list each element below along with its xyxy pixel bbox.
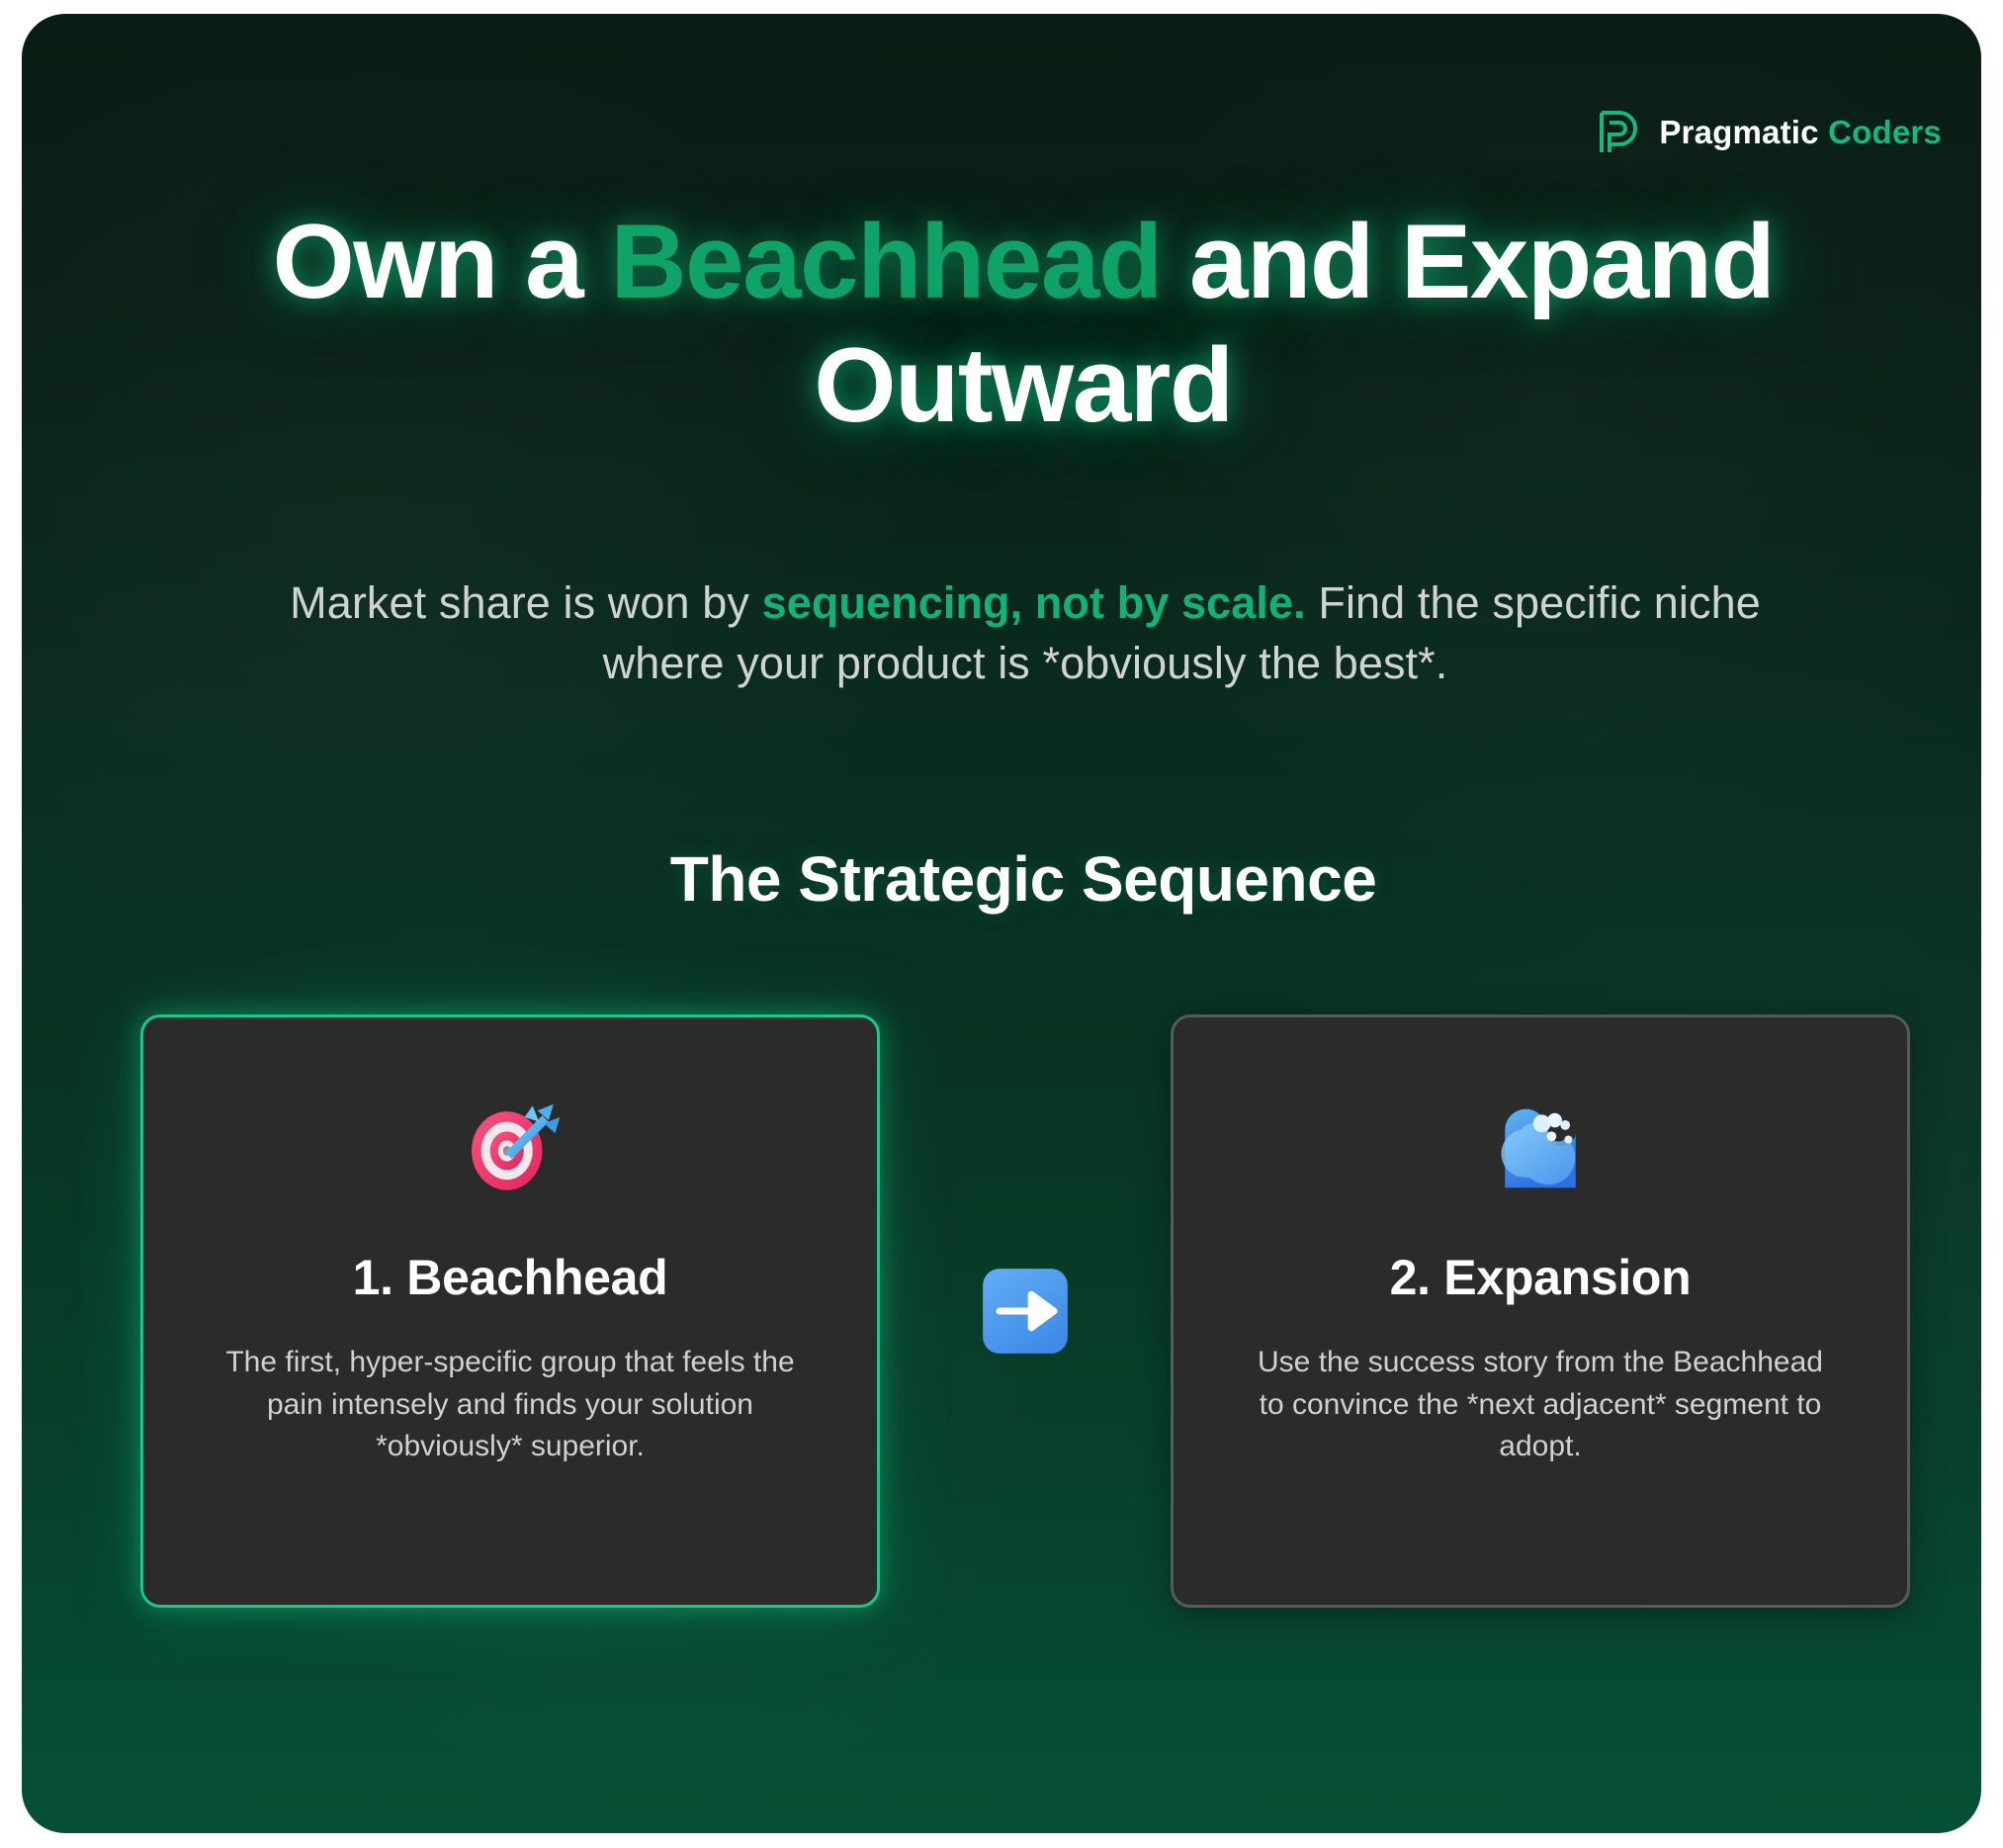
dart-target-icon (459, 1095, 562, 1249)
strategic-sequence: 1. Beachhead The first, hyper-specific g… (140, 1014, 1910, 1608)
headline-accent: Beachhead (610, 202, 1161, 320)
brand-name-primary: Pragmatic (1659, 114, 1818, 150)
slide-canvas: Pragmatic Coders Own a Beachhead and Exp… (22, 14, 1981, 1833)
ocean-wave-icon (1489, 1095, 1592, 1249)
card-title: 2. Expansion (1390, 1249, 1692, 1306)
page-title: Own a Beachhead and Expand Outward (131, 200, 1916, 447)
lede-paragraph: Market share is won by sequencing, not b… (269, 573, 1782, 694)
card-body: Use the success story from the Beachhead… (1244, 1342, 1837, 1468)
brand-name: Pragmatic Coders (1659, 114, 1942, 151)
pragmatic-coders-p-logo-icon (1598, 109, 1641, 156)
sequence-card-expansion[interactable]: 2. Expansion Use the success story from … (1171, 1014, 1910, 1608)
right-arrow-icon (977, 1263, 1074, 1360)
sequence-card-beachhead[interactable]: 1. Beachhead The first, hyper-specific g… (140, 1014, 880, 1608)
headline-part-1: Own a (273, 202, 611, 320)
lede-accent: sequencing, not by scale. (762, 577, 1306, 628)
card-body: The first, hyper-specific group that fee… (214, 1342, 807, 1468)
brand-logo: Pragmatic Coders (1598, 109, 1942, 156)
slide-root: Pragmatic Coders Own a Beachhead and Exp… (0, 0, 2003, 1848)
sequence-connector (977, 1263, 1074, 1360)
section-title: The Strategic Sequence (131, 842, 1916, 916)
brand-name-secondary: Coders (1828, 114, 1942, 150)
lede-part-1: Market share is won by (290, 577, 761, 628)
card-title: 1. Beachhead (353, 1249, 668, 1306)
